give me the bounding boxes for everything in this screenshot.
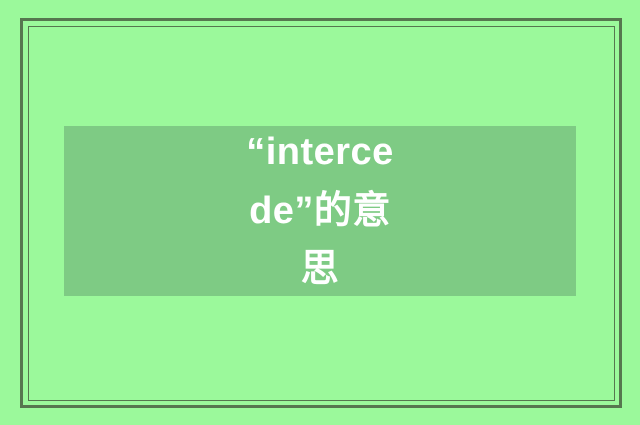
card-title: “intercede”的意思 xyxy=(245,126,395,296)
content-card: “intercede”的意思 xyxy=(64,126,576,296)
page-root: “intercede”的意思 xyxy=(0,0,640,425)
